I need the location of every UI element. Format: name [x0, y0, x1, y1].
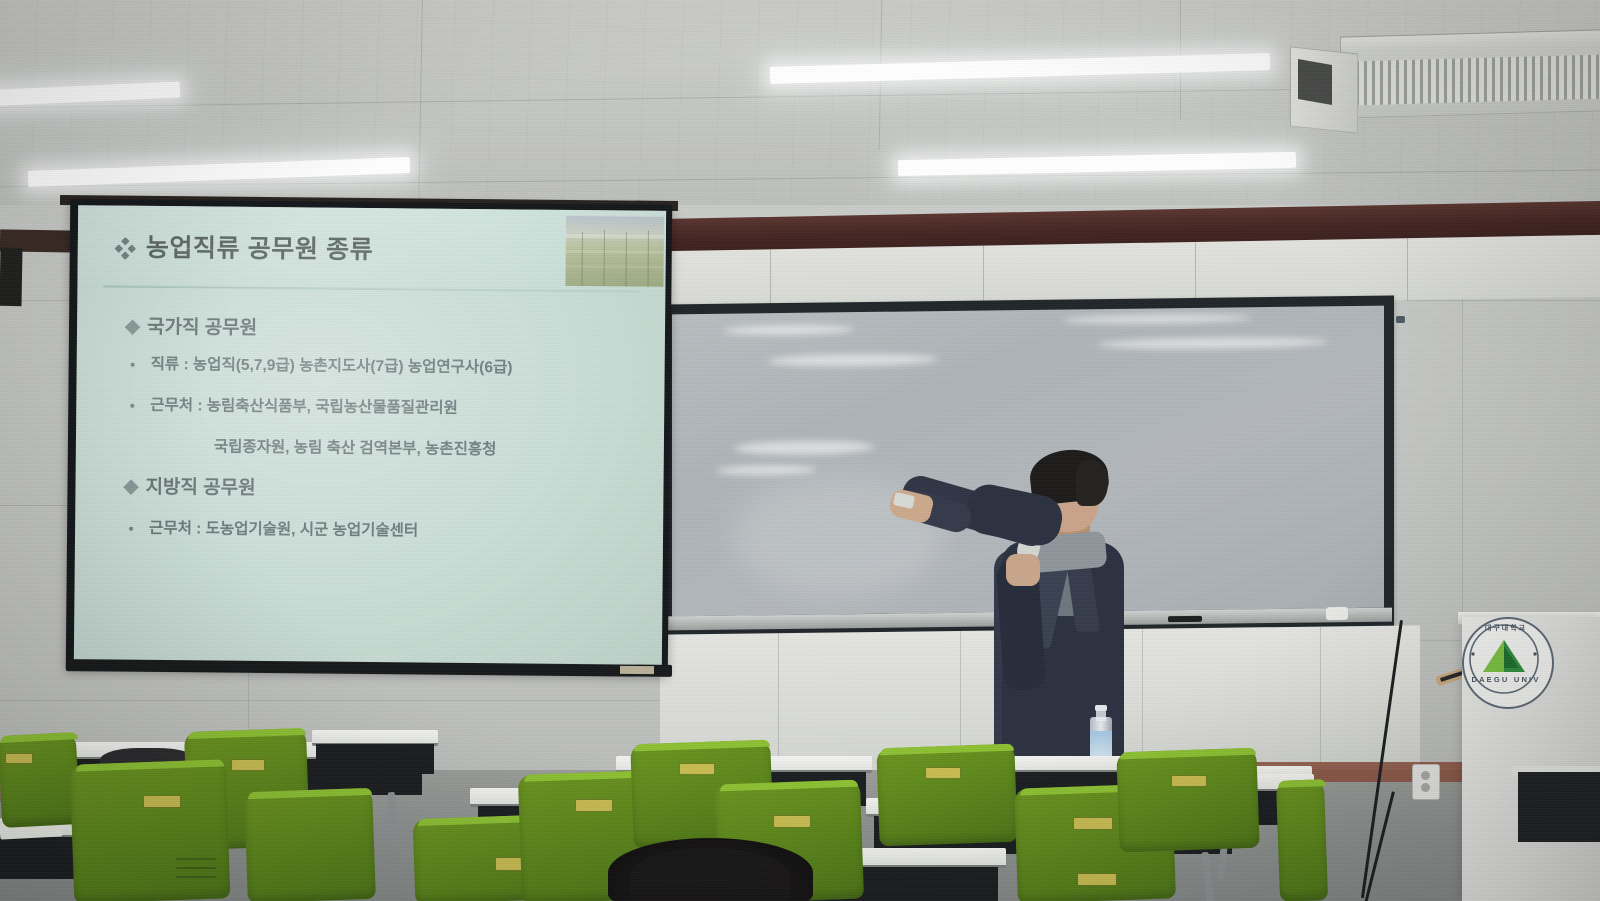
screen-pull-tab[interactable] — [620, 666, 654, 674]
slide-bullet: 근무처 : 농림축산식품부, 국립농산물품질관리원 — [130, 393, 458, 418]
whiteboard-smudge — [1098, 336, 1328, 350]
whiteboard-smudge — [716, 465, 816, 476]
whiteboard-marker[interactable] — [1168, 616, 1202, 622]
whiteboard-smudge — [734, 440, 874, 456]
university-logo-text-korean: 대구대학교 — [1468, 623, 1544, 633]
wall-seam — [1404, 300, 1600, 301]
slide-bullet-continuation: 국립종자원, 농림 축산 검역본부, 농촌진흥청 — [214, 435, 497, 460]
slide-bullet: 직류 : 농업직(5,7,9급) 농촌지도사(7급) 농업연구사(6급) — [131, 352, 513, 378]
lecture-hall-photo: 농업직류 공무원 종류 국가직 공무원 직류 : 농업직(5,7,9급) 농촌지… — [0, 0, 1600, 901]
panel-divider — [983, 246, 984, 308]
panel-divider — [770, 249, 771, 311]
presenter-hand — [1006, 554, 1040, 586]
outlet-hole — [1421, 771, 1430, 780]
ac-vent-grill — [1356, 55, 1600, 106]
bottle-label — [1090, 731, 1112, 757]
slide-section-heading: 지방직 공무원 — [125, 472, 255, 500]
diamond-cluster-icon — [114, 238, 136, 260]
university-logo: 대구대학교 DAEGU UNIV — [1462, 617, 1554, 709]
dot-bullet-icon — [131, 363, 135, 367]
university-logo-text-english: DAEGU UNIV — [1468, 675, 1544, 684]
whiteboard-smudge — [768, 353, 938, 367]
diamond-bullet-icon — [125, 320, 141, 336]
slide-title: 농업직류 공무원 종류 — [146, 228, 374, 266]
student-hair — [630, 848, 790, 901]
screen-mount-bracket — [0, 248, 23, 306]
podium: 대구대학교 DAEGU UNIV — [1462, 617, 1600, 901]
diamond-bullet-icon — [123, 480, 139, 496]
whiteboard-smudge — [724, 324, 854, 336]
wall-seam — [0, 700, 660, 701]
side-desk — [1518, 772, 1600, 842]
whiteboard-corner-fixture — [1396, 316, 1405, 323]
cabinet-divider — [778, 633, 779, 773]
panel-divider — [1195, 242, 1196, 304]
whiteboard-smudge — [1062, 313, 1252, 324]
dot-bullet-icon — [130, 404, 134, 408]
slide-bullet: 근무처 : 도농업기술원, 시군 농업기술센터 — [129, 516, 418, 541]
presenter-hair — [1076, 460, 1108, 506]
cabinet-divider — [1320, 627, 1321, 767]
wall-outlet[interactable] — [1412, 764, 1440, 800]
whiteboard-eraser[interactable] — [1326, 607, 1348, 620]
ac-vent-slot — [1298, 59, 1332, 105]
slide-section-heading: 국가직 공무원 — [127, 312, 257, 340]
panel-divider — [1407, 238, 1408, 300]
dot-bullet-icon — [129, 527, 133, 531]
outlet-hole — [1421, 783, 1430, 792]
field-photo-thumbnail — [565, 216, 664, 287]
presentation-slide: 농업직류 공무원 종류 국가직 공무원 직류 : 농업직(5,7,9급) 농촌지… — [74, 205, 666, 667]
bottle-cap — [1095, 705, 1107, 711]
